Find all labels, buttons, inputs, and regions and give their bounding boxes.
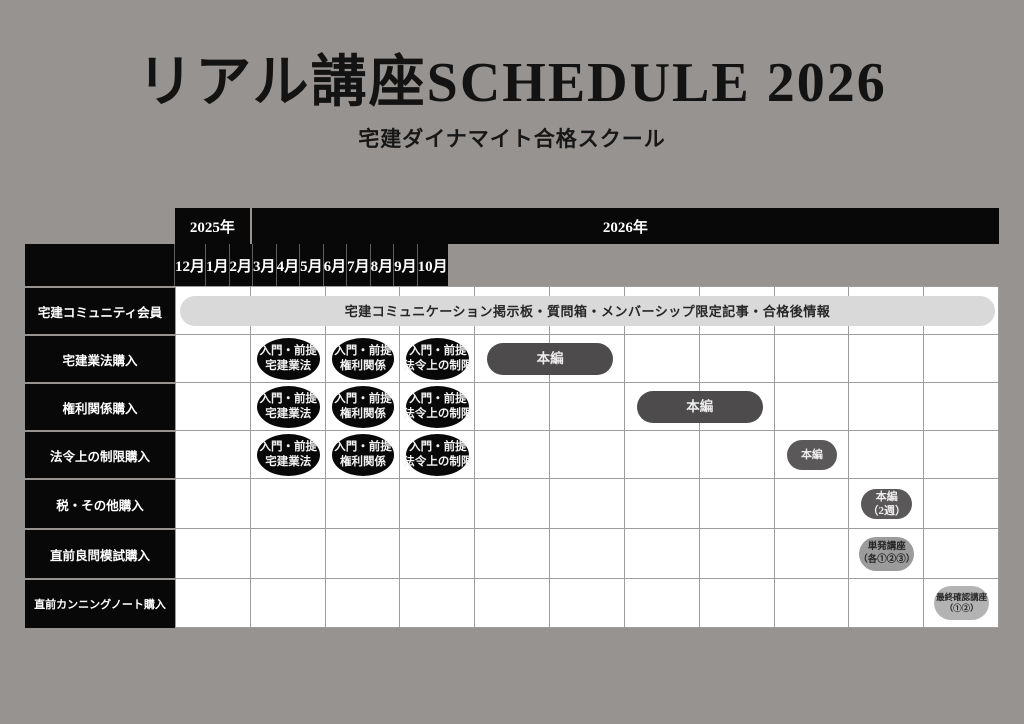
grid-cell[interactable] (400, 529, 475, 578)
pill-text-line: 入門・前提 (259, 440, 317, 455)
row-label-5: 税・その他購入 (25, 478, 175, 528)
grid-cell[interactable] (400, 479, 475, 528)
page-title: リアル講座SCHEDULE 2026 (0, 52, 1024, 114)
pill-text-line: 入門・前提 (334, 344, 392, 359)
pill-text-line: 法令上の制限 (403, 407, 472, 422)
grid-cell[interactable] (849, 383, 924, 430)
grid-cell[interactable] (176, 335, 251, 382)
month-row-corner-cell (25, 244, 175, 286)
grid-cell[interactable] (775, 383, 850, 430)
schedule-pill[interactable]: 入門・前提法令上の制限 (406, 338, 469, 380)
row-cells: 単発講座（各①②③） (175, 528, 999, 578)
pill-text-line: 権利関係 (340, 455, 386, 470)
schedule-body: 宅建コミュニティ会員宅建コミュニケーション掲示板・質問箱・メンバーシップ限定記事… (25, 286, 999, 628)
row-cells: 入門・前提宅建業法入門・前提権利関係入門・前提法令上の制限本編 (175, 382, 999, 430)
grid-cell[interactable] (475, 383, 550, 430)
month-header-cell: 12月 (175, 244, 206, 286)
grid-cell[interactable] (550, 431, 625, 478)
schedule-pill[interactable]: 入門・前提法令上の制限 (406, 386, 469, 428)
grid-cell[interactable] (625, 579, 700, 627)
schedule-pill[interactable]: 宅建コミュニケーション掲示板・質問箱・メンバーシップ限定記事・合格後情報 (180, 296, 995, 326)
grid-cell[interactable] (176, 579, 251, 627)
grid-cell[interactable] (251, 529, 326, 578)
pill-text-line: 宅建業法 (265, 455, 311, 470)
grid-cell[interactable] (700, 579, 775, 627)
schedule-row: 直前良問模試購入単発講座（各①②③） (25, 528, 999, 578)
grid-cell[interactable] (924, 529, 999, 578)
pill-text-line: 最終確認講座 (936, 592, 987, 604)
schedule-row: 直前カンニングノート購入最終確認講座（①②） (25, 578, 999, 628)
pill-text-line: 入門・前提 (259, 344, 317, 359)
grid-cell[interactable] (924, 335, 999, 382)
row-label-6: 直前良問模試購入 (25, 528, 175, 578)
month-header-cell: 3月 (253, 244, 277, 286)
schedule-row: 法令上の制限購入入門・前提宅建業法入門・前提権利関係入門・前提法令上の制限本編 (25, 430, 999, 478)
pill-text-line: （各①②③） (858, 554, 915, 567)
pill-text-line: 本編 (801, 448, 823, 462)
schedule-pill[interactable]: 本編（2週） (861, 489, 912, 519)
grid-cell[interactable] (924, 479, 999, 528)
grid-cell[interactable] (550, 579, 625, 627)
schedule-pill[interactable]: 入門・前提宅建業法 (257, 338, 320, 380)
row-cells: 入門・前提宅建業法入門・前提権利関係入門・前提法令上の制限本編 (175, 430, 999, 478)
month-header-cell: 5月 (300, 244, 324, 286)
schedule-table: 2025年2026年 12月1月2月3月4月5月6月7月8月9月10月 宅建コミ… (25, 208, 999, 628)
schedule-pill[interactable]: 入門・前提権利関係 (332, 434, 395, 476)
month-header-cell: 4月 (277, 244, 301, 286)
grid-cell[interactable] (700, 529, 775, 578)
month-header-cell: 2月 (230, 244, 254, 286)
schedule-pill[interactable]: 入門・前提権利関係 (332, 386, 395, 428)
grid-cell[interactable] (400, 579, 475, 627)
grid-cell[interactable] (326, 479, 401, 528)
pill-text-line: 本編 (537, 350, 564, 367)
schedule-pill[interactable]: 単発講座（各①②③） (859, 537, 914, 571)
month-header-cell: 7月 (347, 244, 371, 286)
pill-text-line: 宅建コミュニケーション掲示板・質問箱・メンバーシップ限定記事・合格後情報 (345, 301, 830, 320)
pill-text-line: （①②） (945, 603, 979, 615)
grid-cell[interactable] (475, 431, 550, 478)
schedule-row: 税・その他購入本編（2週） (25, 478, 999, 528)
pill-text-line: 入門・前提 (259, 392, 317, 407)
month-header-cell: 10月 (418, 244, 448, 286)
schedule-pill[interactable]: 本編 (487, 343, 613, 375)
row-label-2: 宅建業法購入 (25, 334, 175, 382)
pill-text-line: 宅建業法 (265, 407, 311, 422)
row-cells: 本編（2週） (175, 478, 999, 528)
schedule-pill[interactable]: 入門・前提権利関係 (332, 338, 395, 380)
row-cells: 宅建コミュニケーション掲示板・質問箱・メンバーシップ限定記事・合格後情報 (175, 286, 999, 334)
title-block: リアル講座SCHEDULE 2026 宅建ダイナマイト合格スクール (0, 52, 1024, 152)
schedule-pill[interactable]: 入門・前提法令上の制限 (406, 434, 469, 476)
grid-cell[interactable] (176, 529, 251, 578)
schedule-row: 宅建コミュニティ会員宅建コミュニケーション掲示板・質問箱・メンバーシップ限定記事… (25, 286, 999, 334)
grid-cell[interactable] (849, 335, 924, 382)
pill-text-line: 本編 (686, 398, 713, 415)
schedule-pill[interactable]: 本編 (637, 391, 763, 423)
month-header-cell: 6月 (324, 244, 348, 286)
pill-text-line: （2週） (868, 504, 907, 518)
row-label-7: 直前カンニングノート購入 (25, 578, 175, 628)
schedule-pill[interactable]: 本編 (787, 440, 838, 470)
grid-cell[interactable] (475, 529, 550, 578)
row-label-3: 権利関係購入 (25, 382, 175, 430)
grid-cell[interactable] (625, 335, 700, 382)
pill-text-line: 本編 (876, 490, 898, 504)
grid-cell[interactable] (775, 335, 850, 382)
grid-cell[interactable] (924, 383, 999, 430)
grid-cell[interactable] (700, 479, 775, 528)
grid-cell[interactable] (625, 479, 700, 528)
grid-cell[interactable] (176, 383, 251, 430)
grid-cell[interactable] (924, 431, 999, 478)
grid-cell[interactable] (251, 579, 326, 627)
schedule-pill[interactable]: 入門・前提宅建業法 (257, 386, 320, 428)
month-header-cell: 1月 (206, 244, 230, 286)
grid-cell[interactable] (775, 479, 850, 528)
grid-cell[interactable] (625, 529, 700, 578)
pill-text-line: 入門・前提 (409, 440, 467, 455)
grid-cell[interactable] (849, 579, 924, 627)
grid-cell[interactable] (775, 529, 850, 578)
pill-text-line: 入門・前提 (334, 392, 392, 407)
pill-text-line: 宅建業法 (265, 359, 311, 374)
pill-text-line: 法令上の制限 (403, 359, 472, 374)
pill-text-line: 権利関係 (340, 359, 386, 374)
grid-cell[interactable] (700, 335, 775, 382)
year-header-cell: 2025年 (175, 208, 252, 244)
grid-cell[interactable] (775, 579, 850, 627)
grid-cell[interactable] (550, 529, 625, 578)
month-header-cell: 9月 (394, 244, 418, 286)
grid-cell[interactable] (176, 431, 251, 478)
row-cells: 最終確認講座（①②） (175, 578, 999, 628)
grid-cell[interactable] (700, 431, 775, 478)
grid-cell[interactable] (550, 479, 625, 528)
month-cells: 12月1月2月3月4月5月6月7月8月9月10月 (175, 244, 999, 286)
grid-cell[interactable] (176, 479, 251, 528)
pill-text-line: 権利関係 (340, 407, 386, 422)
grid-cell[interactable] (475, 579, 550, 627)
page-subtitle: 宅建ダイナマイト合格スクール (0, 126, 1024, 152)
pill-text-line: 入門・前提 (409, 392, 467, 407)
year-cells: 2025年2026年 (175, 208, 999, 244)
pill-text-line: 入門・前提 (334, 440, 392, 455)
month-header-cell: 8月 (371, 244, 395, 286)
grid-cell[interactable] (475, 479, 550, 528)
grid-cell[interactable] (849, 431, 924, 478)
schedule-pill[interactable]: 入門・前提宅建業法 (257, 434, 320, 476)
grid-cell[interactable] (251, 479, 326, 528)
grid-cell[interactable] (326, 579, 401, 627)
grid-cell[interactable] (550, 383, 625, 430)
row-label-1: 宅建コミュニティ会員 (25, 286, 175, 334)
year-header-cell: 2026年 (252, 208, 999, 244)
pill-text-line: 入門・前提 (409, 344, 467, 359)
schedule-row: 宅建業法購入入門・前提宅建業法入門・前提権利関係入門・前提法令上の制限本編 (25, 334, 999, 382)
pill-text-line: 単発講座 (868, 541, 906, 554)
month-header-row: 12月1月2月3月4月5月6月7月8月9月10月 (25, 244, 999, 286)
schedule-pill[interactable]: 最終確認講座（①②） (934, 586, 989, 620)
row-cells: 入門・前提宅建業法入門・前提権利関係入門・前提法令上の制限本編 (175, 334, 999, 382)
pill-text-line: 法令上の制限 (403, 455, 472, 470)
row-label-4: 法令上の制限購入 (25, 430, 175, 478)
grid-cell[interactable] (326, 529, 401, 578)
year-row-corner-spacer (25, 208, 175, 244)
year-header-row: 2025年2026年 (25, 208, 999, 244)
schedule-row: 権利関係購入入門・前提宅建業法入門・前提権利関係入門・前提法令上の制限本編 (25, 382, 999, 430)
grid-cell[interactable] (625, 431, 700, 478)
